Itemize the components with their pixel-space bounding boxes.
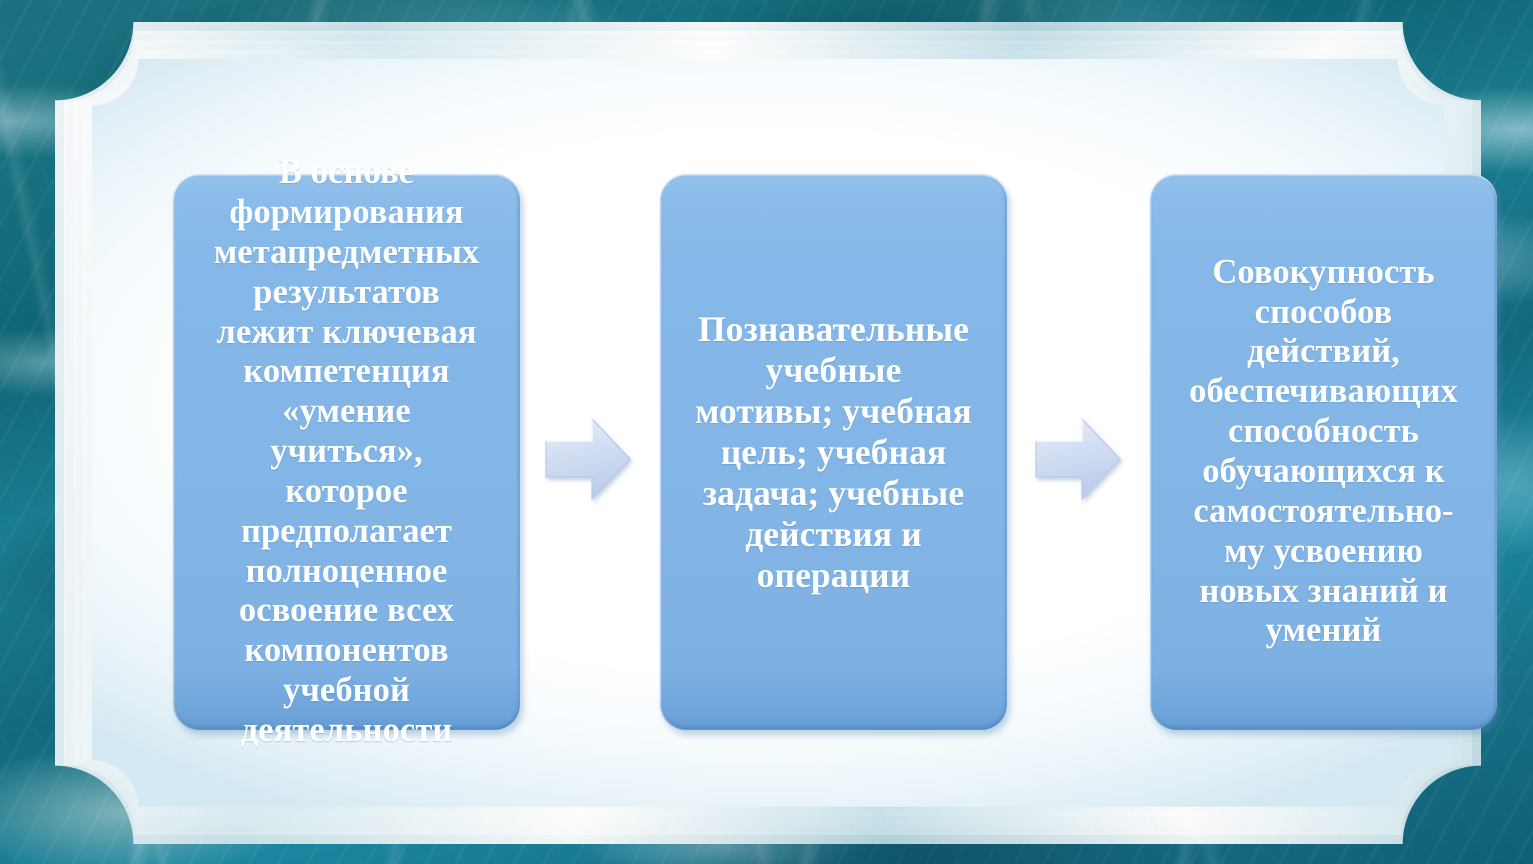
process-node-2-label: Познавательные учебные мотивы; учебная ц…	[695, 309, 972, 596]
flow-arrow-1	[544, 414, 632, 504]
right-arrow-icon	[1034, 414, 1122, 504]
presentation-slide: В основе формирования метапредметных рез…	[0, 0, 1533, 864]
ornate-frame: В основе формирования метапредметных рез…	[55, 22, 1481, 844]
process-node-3-label: Совокупность способов действий, обеспечи…	[1189, 253, 1458, 651]
process-node-1-label: В основе формирования метапредметных рез…	[214, 153, 480, 751]
process-node-2[interactable]: Познавательные учебные мотивы; учебная ц…	[660, 174, 1007, 730]
process-node-3[interactable]: Совокупность способов действий, обеспечи…	[1150, 174, 1497, 730]
right-arrow-icon	[544, 414, 632, 504]
flow-arrow-2	[1034, 414, 1122, 504]
diagram-content: В основе формирования метапредметных рез…	[55, 22, 1481, 844]
process-node-1[interactable]: В основе формирования метапредметных рез…	[173, 174, 520, 730]
